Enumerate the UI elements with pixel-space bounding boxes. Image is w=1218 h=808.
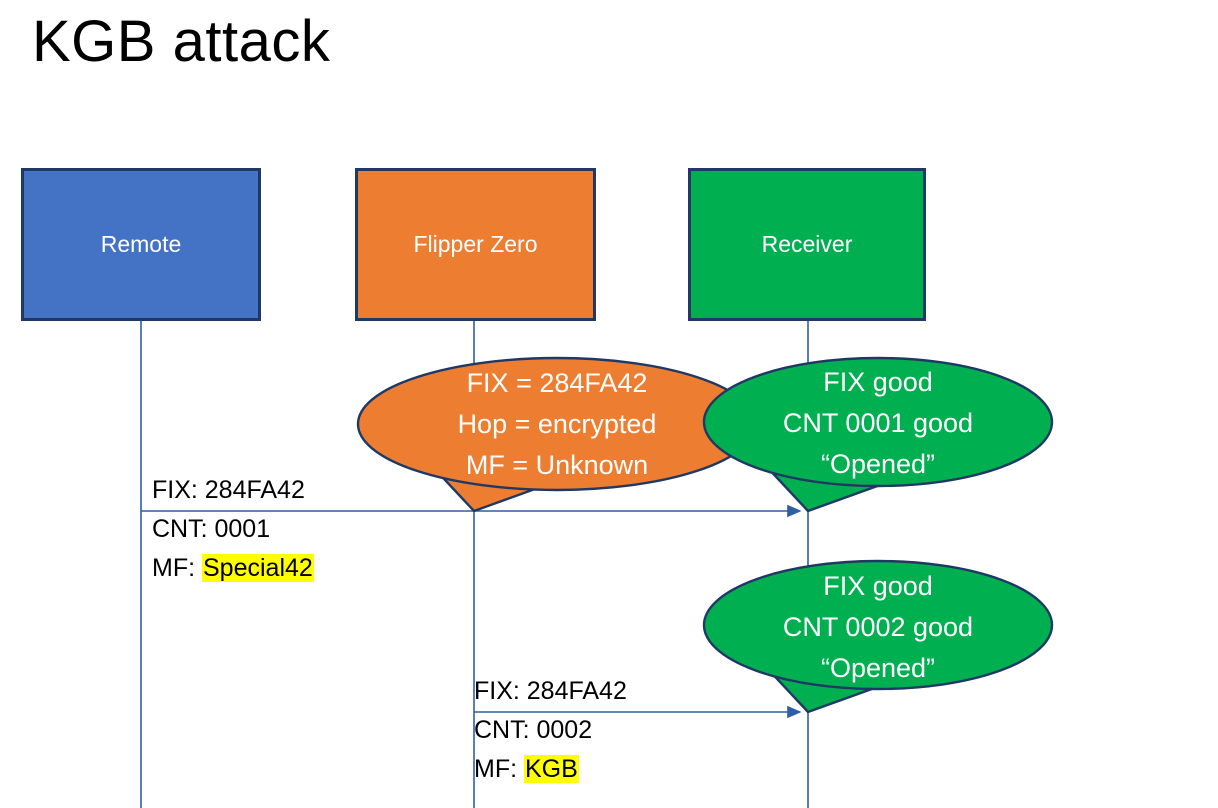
callout-flipper-line-2: Hop = encrypted: [458, 409, 657, 439]
actor-box-receiver[interactable]: Receiver: [688, 168, 926, 321]
message-1-fix: FIX: 284FA42: [152, 471, 314, 510]
message-2-cnt: CNT: 0002: [474, 711, 627, 750]
callout-receiver-second: FIX good CNT 0002 good “Opened”: [704, 561, 1052, 712]
callout-receiver-second-ellipse: [704, 561, 1052, 689]
actor-box-remote[interactable]: Remote: [21, 168, 261, 321]
actor-box-flipper[interactable]: Flipper Zero: [355, 168, 596, 321]
message-1-mf-value: Special42: [202, 554, 314, 582]
message-2-mf: MF: KGB: [474, 750, 627, 789]
message-label-flipper-to-receiver: FIX: 284FA42 CNT: 0002 MF: KGB: [474, 672, 627, 789]
message-2-mf-value: KGB: [524, 755, 579, 783]
actor-label-flipper: Flipper Zero: [414, 231, 538, 258]
callout-flipper-line-1: FIX = 284FA42: [467, 368, 648, 398]
message-1-cnt: CNT: 0001: [152, 510, 314, 549]
message-2-fix: FIX: 284FA42: [474, 672, 627, 711]
callout-receiver-second-tail: [766, 667, 894, 712]
actor-label-receiver: Receiver: [762, 231, 853, 258]
actor-label-remote: Remote: [101, 231, 182, 258]
callout-receiver-second-line-3: “Opened”: [821, 653, 935, 683]
page-title: KGB attack: [32, 8, 330, 75]
slide-canvas: KGB attack FIX = 284FA42 Hop = encrypted…: [0, 0, 1218, 808]
message-1-mf-label: MF:: [152, 554, 202, 582]
callout-receiver-first-line-1: FIX good: [823, 367, 933, 397]
callout-receiver-first-tail: [766, 466, 894, 511]
message-label-remote-to-receiver: FIX: 284FA42 CNT: 0001 MF: Special42: [152, 471, 314, 588]
callout-receiver-first: FIX good CNT 0001 good “Opened”: [704, 358, 1052, 511]
callout-receiver-first-ellipse: [704, 358, 1052, 486]
callout-flipper-line-3: MF = Unknown: [466, 450, 648, 480]
callout-receiver-first-line-3: “Opened”: [821, 449, 935, 479]
callout-flipper-capture: FIX = 284FA42 Hop = encrypted MF = Unkno…: [358, 358, 756, 511]
callout-receiver-second-line-1: FIX good: [823, 571, 933, 601]
callout-flipper-tail: [432, 466, 560, 511]
message-2-mf-label: MF:: [474, 755, 524, 783]
callout-receiver-first-line-2: CNT 0001 good: [783, 408, 973, 438]
callout-flipper-ellipse: [358, 358, 756, 490]
message-1-mf: MF: Special42: [152, 549, 314, 588]
callout-receiver-second-line-2: CNT 0002 good: [783, 612, 973, 642]
